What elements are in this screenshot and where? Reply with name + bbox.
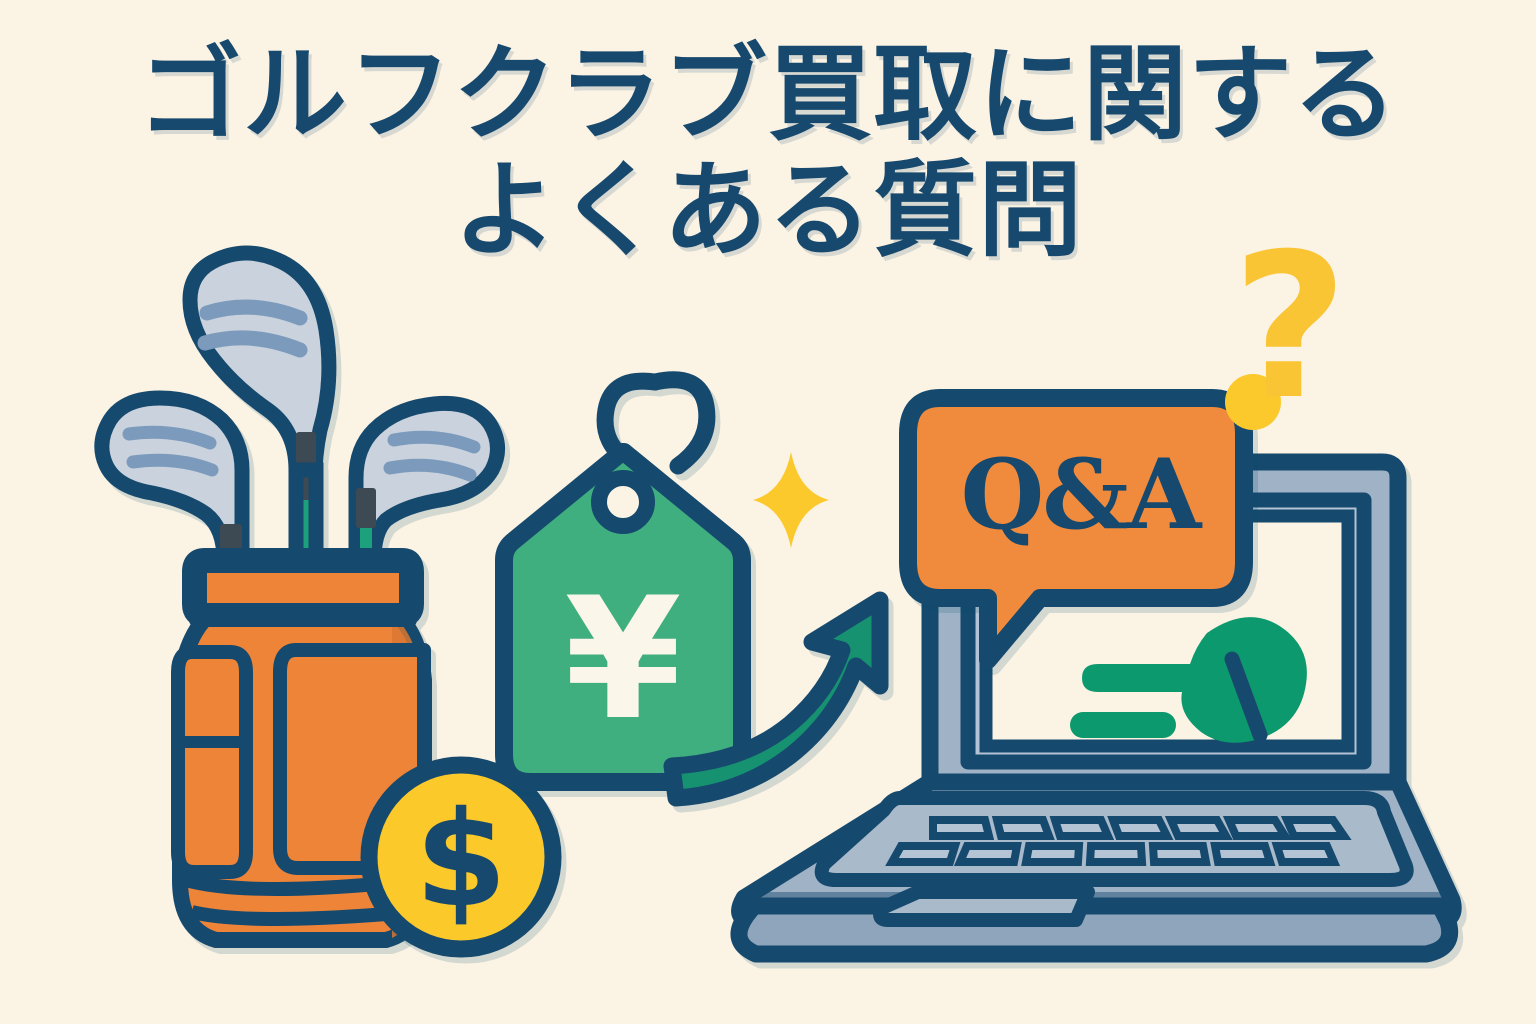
illustration-canvas: ゴルフクラブ買取に関する よくある質問 Q&A ¥ $ ? xyxy=(0,0,1536,1024)
question-mark-icon: ? xyxy=(1210,228,1370,428)
yen-symbol: ¥ xyxy=(533,575,713,743)
qa-bubble-label: Q&A xyxy=(930,438,1230,551)
laptop-trackpad xyxy=(880,892,1088,920)
dollar-symbol: $ xyxy=(382,788,540,933)
faq-illustration xyxy=(0,0,1536,1024)
